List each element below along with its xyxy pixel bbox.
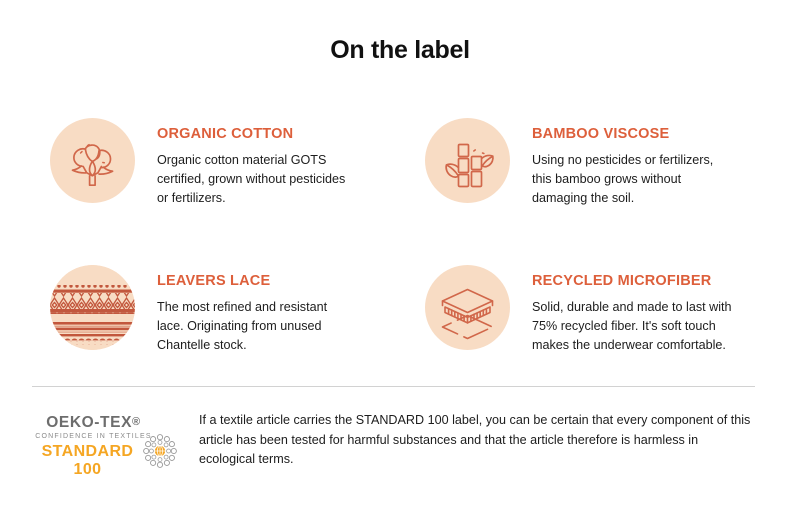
oeko-tex-footer: OEKO-TEX® CONFIDENCE IN TEXTILES STANDAR… [32,408,762,479]
feature-leavers-lace: LEAVERS LACE The most refined and resist… [50,265,380,355]
bamboo-stalks-icon [425,118,510,203]
feature-text-organic-cotton: ORGANIC COTTON Organic cotton material G… [157,118,347,208]
feature-description-recycled-microfiber: Solid, durable and made to last with 75%… [532,298,737,355]
lace-pattern-icon [50,265,135,350]
feature-text-leavers-lace: LEAVERS LACE The most refined and resist… [157,265,347,355]
oeko-tex-description: If a textile article carries the STANDAR… [199,408,754,470]
feature-description-bamboo-viscose: Using no pesticides or fertilizers, this… [532,151,722,208]
page-title: On the label [0,36,800,65]
features-row-1: ORGANIC COTTON Organic cotton material G… [0,118,800,208]
oeko-tex-name: OEKO-TEX [46,414,132,431]
feature-description-organic-cotton: Organic cotton material GOTS certified, … [157,151,347,208]
cotton-boll-icon [50,118,135,203]
oeko-tex-logo: OEKO-TEX® CONFIDENCE IN TEXTILES STANDAR… [32,408,177,479]
feature-recycled-microfiber: RECYCLED MICROFIBER Solid, durable and m… [425,265,755,355]
feature-description-leavers-lace: The most refined and resistant lace. Ori… [157,298,347,355]
feature-organic-cotton: ORGANIC COTTON Organic cotton material G… [50,118,380,208]
feature-text-bamboo-viscose: BAMBOO VISCOSE Using no pesticides or fe… [532,118,722,208]
feature-title-leavers-lace: LEAVERS LACE [157,273,347,289]
section-divider [32,386,755,387]
feature-title-bamboo-viscose: BAMBOO VISCOSE [532,126,722,142]
feature-text-recycled-microfiber: RECYCLED MICROFIBER Solid, durable and m… [532,265,737,355]
feature-title-recycled-microfiber: RECYCLED MICROFIBER [532,273,737,289]
feature-title-organic-cotton: ORGANIC COTTON [157,126,347,142]
fabric-layers-icon [425,265,510,350]
oeko-tex-mandala-icon [143,434,177,473]
oeko-tex-wordmark: OEKO-TEX® [32,414,177,432]
registered-trademark-icon: ® [132,416,141,428]
features-row-2: LEAVERS LACE The most refined and resist… [0,265,800,355]
feature-bamboo-viscose: BAMBOO VISCOSE Using no pesticides or fe… [425,118,755,208]
on-the-label-page: On the label [0,0,800,509]
features-grid: ORGANIC COTTON Organic cotton material G… [0,118,800,355]
